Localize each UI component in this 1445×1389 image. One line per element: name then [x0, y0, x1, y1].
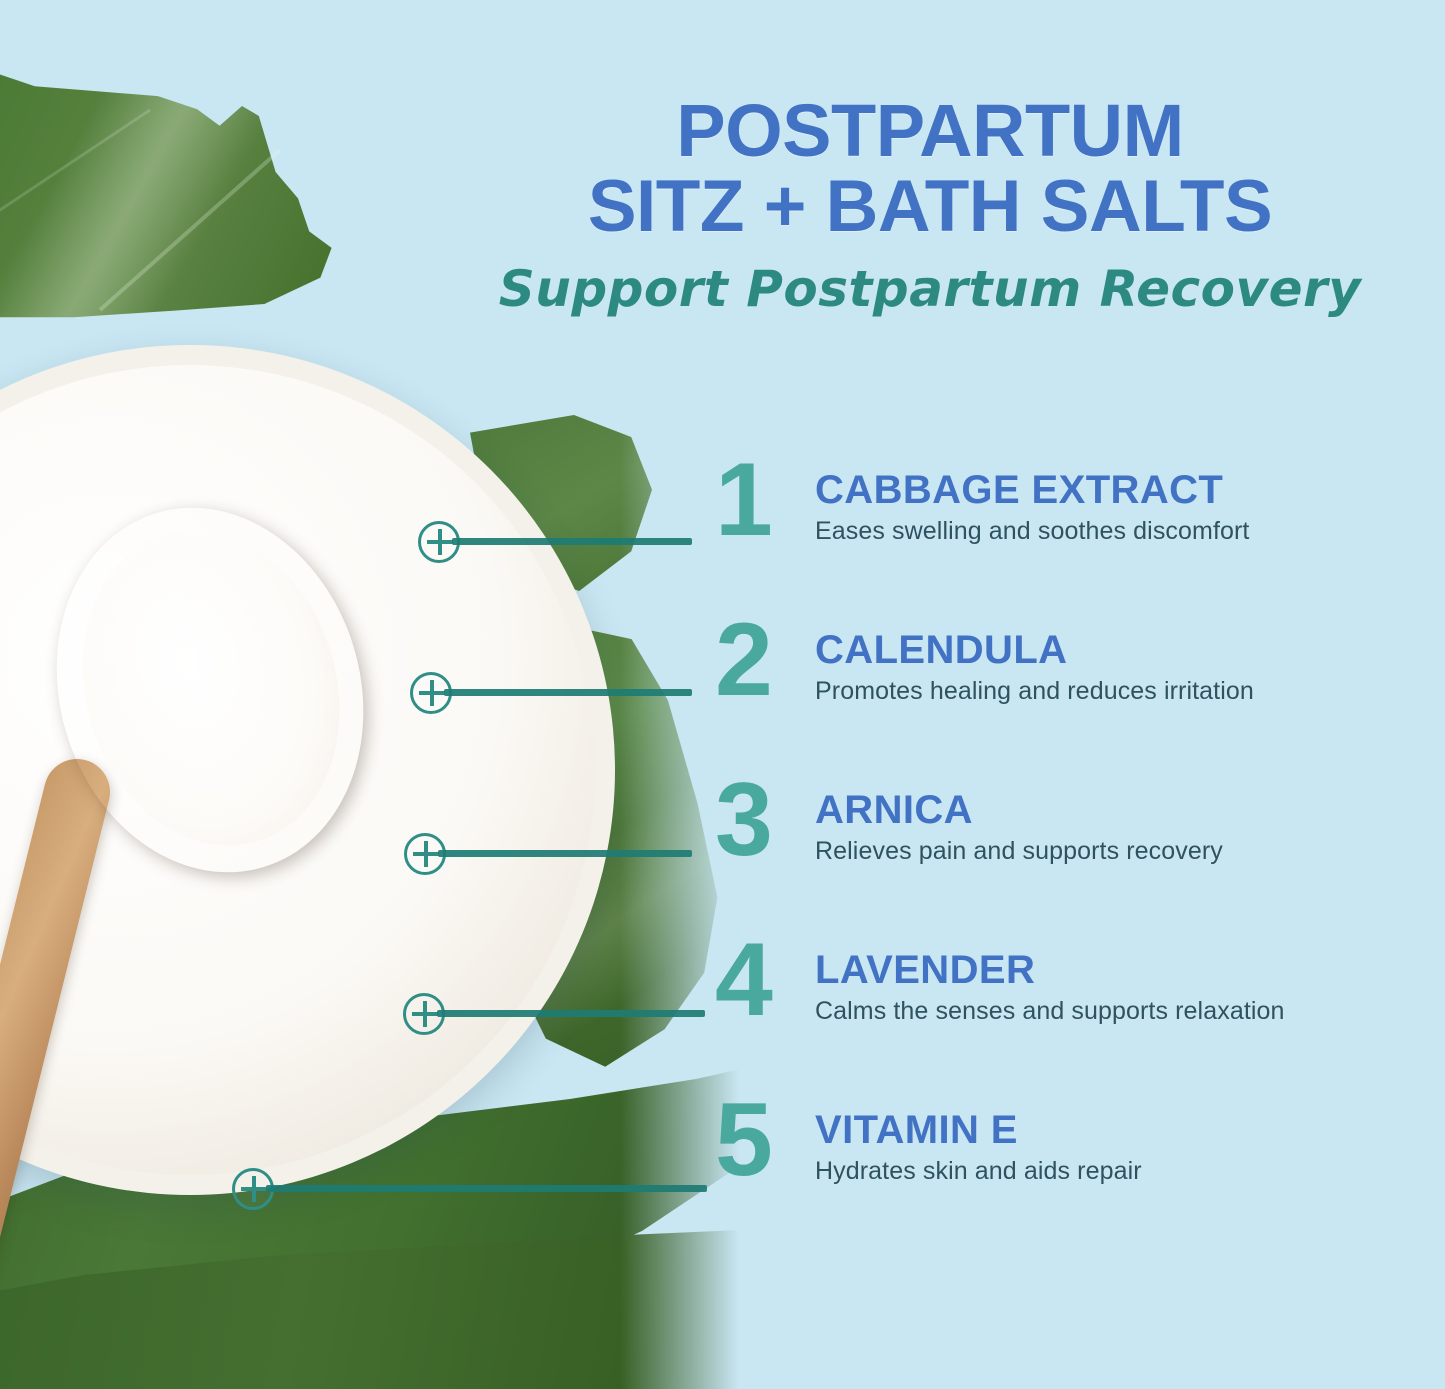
ingredient-number: 4 [715, 935, 815, 1027]
ingredient-number: 1 [715, 455, 815, 547]
ingredient-name: LAVENDER [815, 949, 1285, 991]
leader-line [444, 689, 692, 696]
leader-line [452, 538, 692, 545]
ingredient-description: Relieves pain and supports recovery [815, 837, 1223, 866]
product-infographic: POSTPARTUM SITZ + BATH SALTS Support Pos… [0, 0, 1445, 1389]
ingredient-item-1: 1 CABBAGE EXTRACT Eases swelling and soo… [715, 455, 1415, 615]
header: POSTPARTUM SITZ + BATH SALTS Support Pos… [430, 95, 1430, 318]
ingredient-description: Eases swelling and soothes discomfort [815, 517, 1249, 546]
leaf-top [0, 40, 410, 370]
ingredient-name: VITAMIN E [815, 1109, 1142, 1151]
ingredient-item-3: 3 ARNICA Relieves pain and supports reco… [715, 775, 1415, 935]
leader-line [438, 850, 692, 857]
ingredient-name: CALENDULA [815, 629, 1254, 671]
ingredient-item-2: 2 CALENDULA Promotes healing and reduces… [715, 615, 1415, 775]
ingredient-list: 1 CABBAGE EXTRACT Eases swelling and soo… [715, 455, 1415, 1255]
ingredient-name: CABBAGE EXTRACT [815, 469, 1249, 511]
ingredient-name: ARNICA [815, 789, 1223, 831]
ingredient-item-5: 5 VITAMIN E Hydrates skin and aids repai… [715, 1095, 1415, 1255]
ingredient-description: Hydrates skin and aids repair [815, 1157, 1142, 1186]
page-subtitle: Support Postpartum Recovery [430, 260, 1430, 318]
ingredient-description: Calms the senses and supports relaxation [815, 997, 1285, 1026]
ingredient-item-4: 4 LAVENDER Calms the senses and supports… [715, 935, 1415, 1095]
ingredient-number: 2 [715, 615, 815, 707]
page-title-line-2: SITZ + BATH SALTS [430, 172, 1430, 242]
page-title-line-1: POSTPARTUM [430, 95, 1430, 166]
leader-line [266, 1185, 707, 1192]
ingredient-description: Promotes healing and reduces irritation [815, 677, 1254, 706]
leader-line [437, 1010, 705, 1017]
ingredient-number: 5 [715, 1095, 815, 1187]
ingredient-number: 3 [715, 775, 815, 867]
